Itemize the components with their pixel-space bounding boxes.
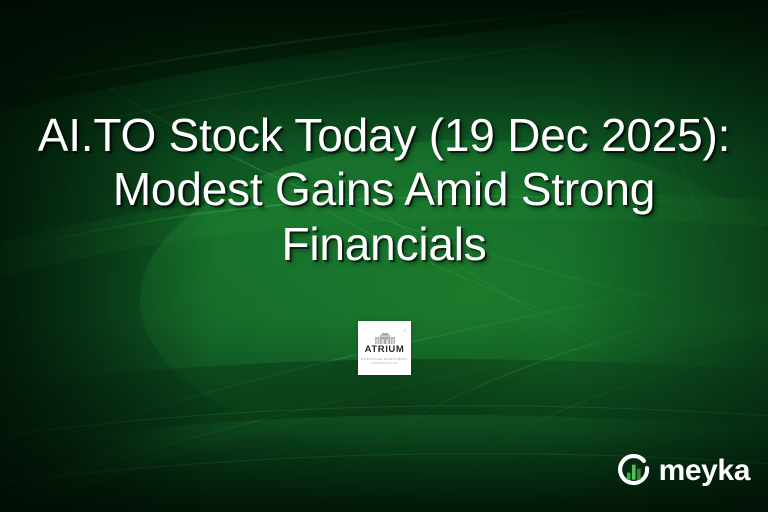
trademark-symbol: ® <box>403 330 406 334</box>
page-title: AI.TO Stock Today (19 Dec 2025): Modest … <box>34 108 734 271</box>
company-tagline-line2: CORPORATION <box>371 361 398 365</box>
headline-container: AI.TO Stock Today (19 Dec 2025): Modest … <box>0 108 768 271</box>
brand-watermark[interactable]: meyka <box>615 452 750 490</box>
meyka-circle-barchart-icon <box>615 452 653 490</box>
company-logo-inner: ® ATRIUM MORTGAGE INVESTMENT CORPORATION <box>358 321 411 375</box>
building-arch-icon <box>375 333 395 344</box>
brand-name: meyka <box>659 456 750 486</box>
company-wordmark: ATRIUM <box>365 345 405 355</box>
company-logo: ® ATRIUM MORTGAGE INVESTMENT CORPORATION <box>358 321 411 375</box>
article-banner: AI.TO Stock Today (19 Dec 2025): Modest … <box>0 0 768 512</box>
